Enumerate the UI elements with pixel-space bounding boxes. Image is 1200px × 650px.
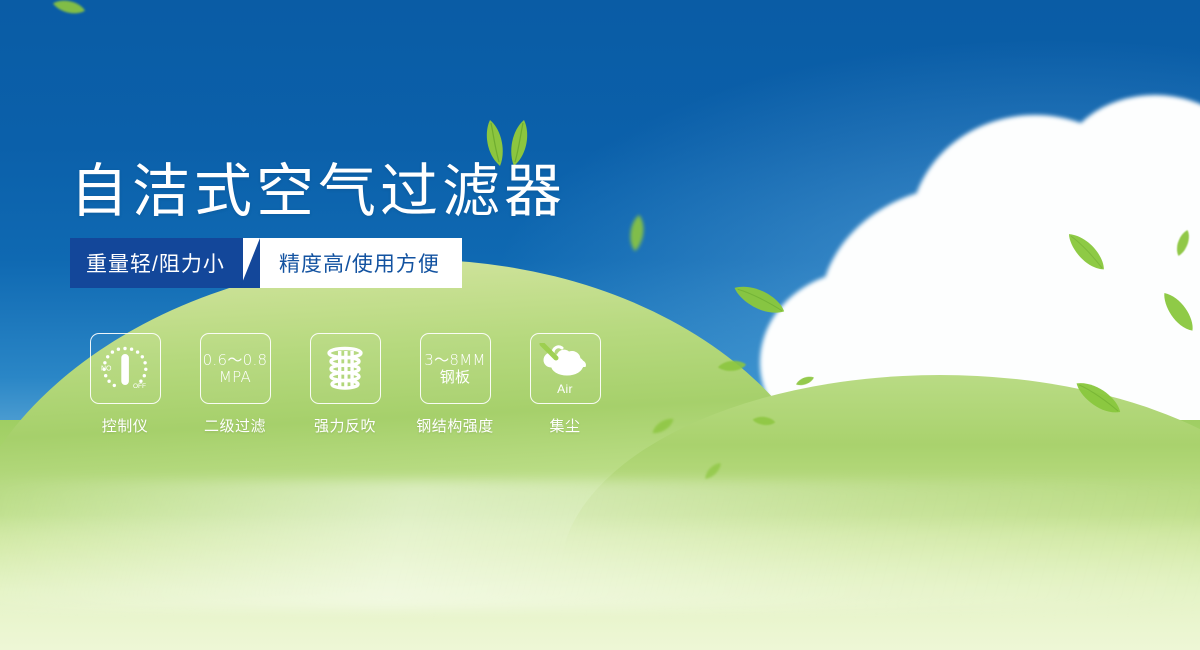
feature-item-dustcollect[interactable]: Air 集尘 [510, 333, 620, 436]
steel-line-1: 3～8MM [424, 351, 485, 369]
gauge-no-label: NO [101, 365, 112, 372]
pressure-line-2: MPA [203, 369, 268, 386]
subtitle-right-segment: 精度高/使用方便 [243, 238, 462, 288]
feature-caption: 钢结构强度 [416, 415, 494, 436]
pressure-text-icon: 0.6～0.8 MPA [200, 333, 271, 404]
filter-cartridge-icon [310, 333, 381, 404]
steel-plate-text-icon: 3～8MM 钢板 [420, 333, 491, 404]
subtitle-left-text: 重量轻/阻力小 [86, 248, 225, 278]
air-label: Air [531, 382, 600, 396]
feature-caption: 控制仪 [102, 415, 149, 436]
grass-field [0, 420, 1200, 650]
gauge-dial-icon: NO OFF [90, 333, 161, 404]
feature-caption: 集尘 [549, 415, 580, 436]
hero-banner: 自洁式空气过滤器 重量轻/阻力小 精度高/使用方便 [0, 0, 1200, 650]
feature-caption: 二级过滤 [204, 415, 266, 436]
pressure-line-1: 0.6～0.8 [203, 351, 268, 369]
feature-item-backblow[interactable]: 强力反吹 [290, 333, 400, 436]
grass-light-sheen [0, 480, 1200, 610]
gauge-off-label: OFF [133, 383, 146, 390]
subtitle-bar: 重量轻/阻力小 精度高/使用方便 [70, 238, 462, 288]
subtitle-left-segment: 重量轻/阻力小 [70, 238, 243, 288]
feature-list: NO OFF 控制仪 0.6～0.8 MPA 二级过滤 [70, 333, 620, 436]
cloud-air-icon: Air [530, 333, 601, 404]
feature-item-steel[interactable]: 3～8MM 钢板 钢结构强度 [400, 333, 510, 436]
steel-line-2: 钢板 [424, 369, 485, 386]
feature-item-pressure[interactable]: 0.6～0.8 MPA 二级过滤 [180, 333, 290, 436]
feature-caption: 强力反吹 [314, 415, 376, 436]
subtitle-right-text: 精度高/使用方便 [279, 248, 440, 278]
page-title: 自洁式空气过滤器 [70, 144, 566, 228]
feature-item-controller[interactable]: NO OFF 控制仪 [70, 333, 180, 436]
